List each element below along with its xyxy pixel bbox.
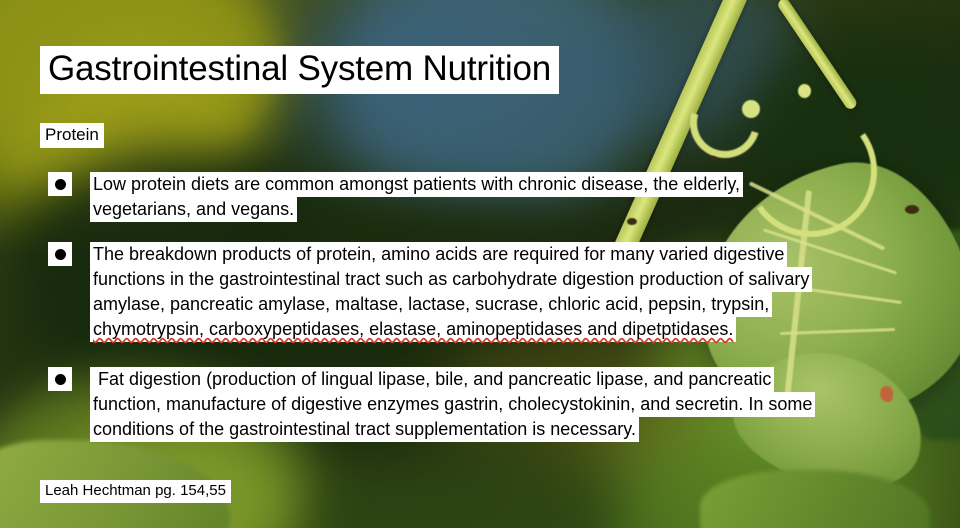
slide-footer-citation: Leah Hechtman pg. 154,55 — [40, 480, 231, 503]
bullet-line: function, manufacture of digestive enzym… — [90, 392, 815, 417]
bullet-line: The breakdown products of protein, amino… — [90, 242, 787, 267]
bullet-line: functions in the gastrointestinal tract … — [90, 267, 812, 292]
bullet-text: Low protein diets are common amongst pat… — [90, 172, 743, 222]
bullet-line: conditions of the gastrointestinal tract… — [90, 417, 639, 442]
bullet-line: amylase, pancreatic amylase, maltase, la… — [90, 292, 772, 317]
presentation-slide: Gastrointestinal System Nutrition Protei… — [0, 0, 960, 528]
bullet-line: Low protein diets are common amongst pat… — [90, 172, 743, 197]
slide-title: Gastrointestinal System Nutrition — [40, 46, 559, 94]
bullet-text: Fat digestion (production of lingual lip… — [90, 367, 815, 442]
bullet-marker-icon — [48, 367, 72, 391]
bullet-line: vegetarians, and vegans. — [90, 197, 297, 222]
bullet-marker-icon — [48, 242, 72, 266]
slide-text-layer: Gastrointestinal System Nutrition Protei… — [0, 0, 960, 528]
bullet-text: The breakdown products of protein, amino… — [90, 242, 812, 342]
bullet-marker-icon — [48, 172, 72, 196]
bullet-line-misspelled: chymotrypsin, carboxypeptidases, elastas… — [90, 317, 736, 342]
slide-subtitle: Protein — [40, 123, 104, 148]
bullet-line: Fat digestion (production of lingual lip… — [90, 367, 774, 392]
